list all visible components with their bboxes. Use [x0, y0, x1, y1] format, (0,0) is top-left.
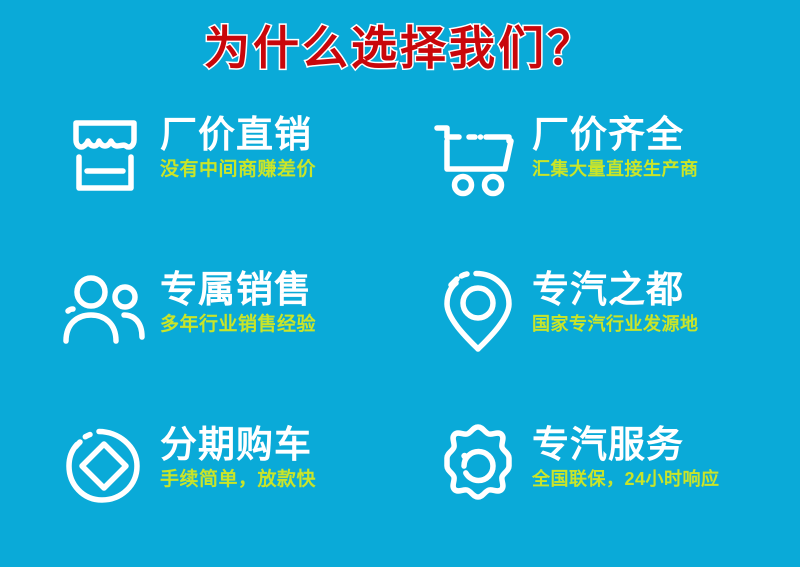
feature-text: 专汽服务 全国联保，24小时响应 [524, 420, 720, 491]
feature-title: 厂价直销 [160, 114, 316, 155]
feature-subtitle: 全国联保，24小时响应 [532, 469, 720, 491]
feature-subtitle: 手续简单，放款快 [160, 469, 316, 492]
feature-grid: 厂价直销 没有中间商赚差价 厂价齐全 汇集大量直接生 [0, 110, 800, 550]
feature-item-special-vehicle-service: 专汽服务 全国联保，24小时响应 [400, 420, 800, 550]
gear-refresh-icon [432, 420, 524, 512]
feature-subtitle: 多年行业销售经验 [160, 314, 316, 337]
feature-item-dedicated-sales: 专属销售 多年行业销售经验 [0, 265, 400, 420]
feature-subtitle: 国家专汽行业发源地 [532, 314, 699, 336]
shopping-cart-icon [432, 110, 524, 202]
feature-title: 分期购车 [160, 424, 316, 465]
feature-subtitle: 汇集大量直接生产商 [532, 159, 699, 181]
feature-title: 专汽之都 [532, 269, 699, 310]
feature-title: 专属销售 [160, 269, 316, 310]
feature-text: 专属销售 多年行业销售经验 [152, 265, 316, 337]
promo-banner: 为什么选择我们？ 厂价直销 没有中间商赚差价 [0, 0, 800, 567]
coin-diamond-icon [60, 420, 152, 512]
map-pin-icon [432, 265, 524, 357]
feature-text: 厂价直销 没有中间商赚差价 [152, 110, 316, 182]
feature-text: 分期购车 手续简单，放款快 [152, 420, 316, 492]
page-title: 为什么选择我们？ [204, 22, 596, 75]
feature-text: 专汽之都 国家专汽行业发源地 [524, 265, 699, 336]
feature-title: 厂价齐全 [532, 114, 699, 155]
feature-subtitle: 没有中间商赚差价 [160, 159, 316, 182]
feature-item-factory-direct-sales: 厂价直销 没有中间商赚差价 [0, 110, 400, 265]
feature-item-full-factory-range: 厂价齐全 汇集大量直接生产商 [400, 110, 800, 265]
two-people-icon [60, 265, 152, 357]
page-title-wrap: 为什么选择我们？ [0, 22, 800, 75]
feature-text: 厂价齐全 汇集大量直接生产商 [524, 110, 699, 181]
feature-title: 专汽服务 [532, 424, 720, 465]
storefront-icon [60, 110, 152, 202]
feature-item-installment-purchase: 分期购车 手续简单，放款快 [0, 420, 400, 550]
feature-item-special-vehicle-capital: 专汽之都 国家专汽行业发源地 [400, 265, 800, 420]
